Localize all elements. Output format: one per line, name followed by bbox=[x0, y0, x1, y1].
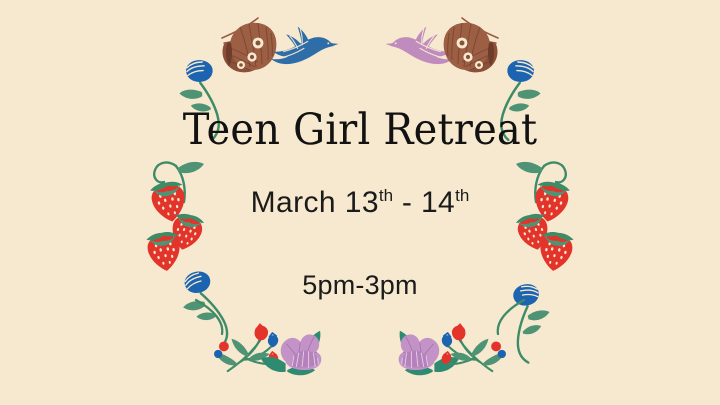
event-date-ordinal-first: th bbox=[379, 186, 393, 205]
event-date: March 13th - 14th bbox=[0, 186, 720, 220]
event-time: 5pm-3pm bbox=[0, 270, 720, 301]
event-date-prefix: March 13 bbox=[251, 186, 379, 219]
event-date-separator: - 14 bbox=[393, 186, 455, 219]
poster-text-block: Teen Girl Retreat March 13th - 14th 5pm-… bbox=[0, 0, 720, 405]
event-date-ordinal-second: th bbox=[455, 186, 469, 205]
event-poster: Teen Girl Retreat March 13th - 14th 5pm-… bbox=[0, 0, 720, 405]
page-title: Teen Girl Retreat bbox=[25, 108, 695, 153]
